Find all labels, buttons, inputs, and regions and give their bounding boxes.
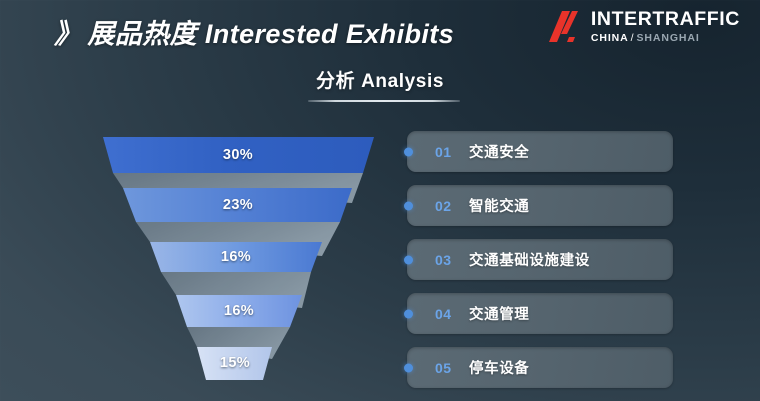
section-heading-rule <box>308 100 460 102</box>
legend-row-2[interactable]: 02 智能交通 <box>407 185 673 226</box>
logo-main-text: INTERTRAFFIC <box>591 10 740 30</box>
legend-label-4: 交通管理 <box>469 303 529 324</box>
funnel-value-1: 30% <box>223 147 253 163</box>
legend-number-1: 01 <box>435 144 469 160</box>
logo-sub-text: CHINA/SHANGHAI <box>591 33 740 44</box>
bullet-dot-icon <box>404 201 413 210</box>
legend-label-2: 智能交通 <box>469 195 529 216</box>
legend-label-3: 交通基础设施建设 <box>469 249 590 270</box>
funnel-value-4: 16% <box>224 303 254 319</box>
legend-row-1[interactable]: 01 交通安全 <box>407 131 673 172</box>
logo-separator: / <box>631 32 635 44</box>
funnel-chart <box>0 0 420 401</box>
funnel-value-5: 15% <box>220 355 250 371</box>
funnel-value-3: 16% <box>221 249 251 265</box>
logo-city: SHANGHAI <box>636 32 699 44</box>
bullet-dot-icon <box>404 147 413 156</box>
legend-number-5: 05 <box>435 360 469 376</box>
bullet-dot-icon <box>404 309 413 318</box>
legend-label-5: 停车设备 <box>469 357 529 378</box>
slide-canvas: 》展品热度 Interested Exhibits INTERTRAFFIC C… <box>0 0 760 401</box>
page-title: 》展品热度 Interested Exhibits <box>54 12 454 51</box>
funnel-value-2: 23% <box>223 197 253 213</box>
legend-row-5[interactable]: 05 停车设备 <box>407 347 673 388</box>
legend-number-3: 03 <box>435 252 469 268</box>
section-heading: 分析 Analysis <box>0 66 760 93</box>
logo-country: CHINA <box>591 32 629 44</box>
legend-list: 01 交通安全 02 智能交通 03 交通基础设施建设 04 交通管理 05 停… <box>407 131 673 401</box>
diagonal-stripes-icon <box>548 11 582 42</box>
section-heading-text: 分析 Analysis <box>316 66 444 93</box>
logo-wordmark: INTERTRAFFIC CHINA/SHANGHAI <box>591 10 740 43</box>
bullet-dot-icon <box>404 363 413 372</box>
legend-number-4: 04 <box>435 306 469 322</box>
page-title-text: 展品热度 Interested Exhibits <box>87 19 454 49</box>
chevron-double-right-icon: 》 <box>54 19 81 49</box>
bullet-dot-icon <box>404 255 413 264</box>
legend-label-1: 交通安全 <box>469 141 529 162</box>
legend-row-4[interactable]: 04 交通管理 <box>407 293 673 334</box>
legend-row-3[interactable]: 03 交通基础设施建设 <box>407 239 673 280</box>
legend-number-2: 02 <box>435 198 469 214</box>
intertraffic-logo: INTERTRAFFIC CHINA/SHANGHAI <box>548 10 740 43</box>
